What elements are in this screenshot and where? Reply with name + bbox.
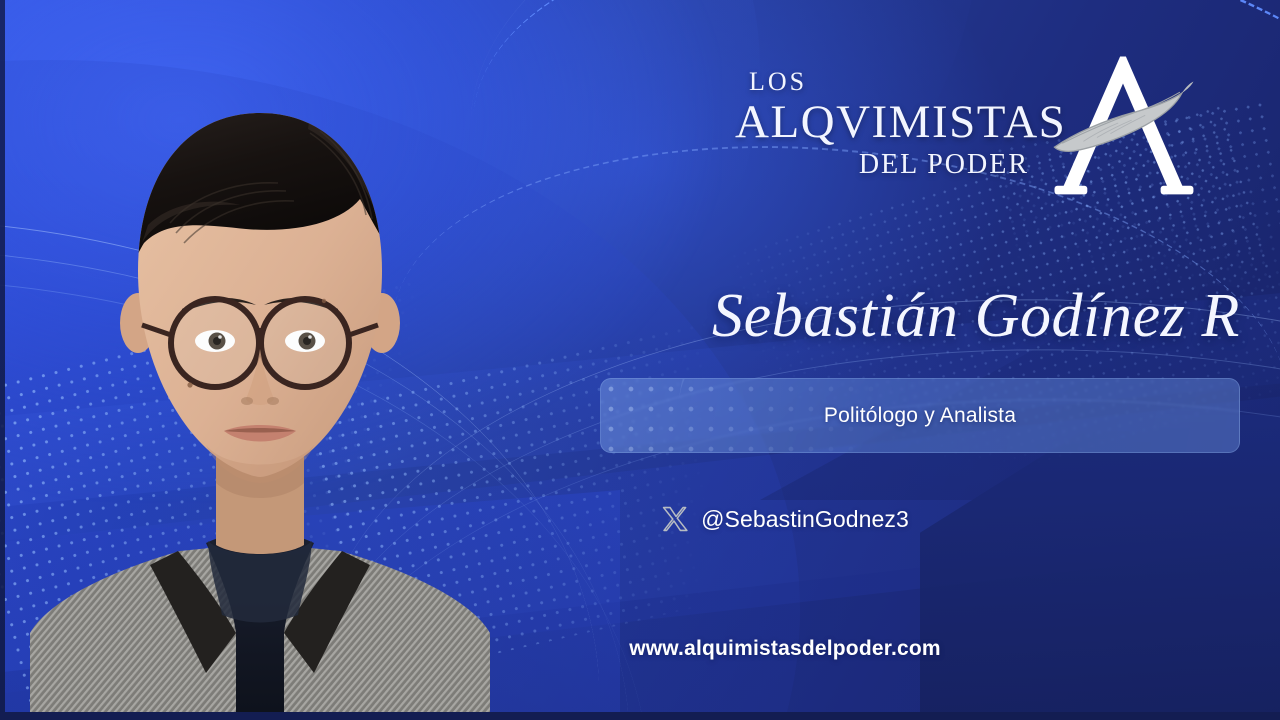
guest-role-label: Politólogo y Analista xyxy=(824,404,1016,428)
social-handle-text: @SebastinGodnez3 xyxy=(701,506,909,533)
social-handle-row: @SebastinGodnez3 xyxy=(0,505,1280,533)
bottom-accent-bar xyxy=(0,712,1280,720)
x-twitter-icon xyxy=(661,505,689,533)
broadcast-lower-third-graphic: LOS ALQVIMISTAS DEL PODER xyxy=(0,0,1280,720)
guest-portrait-photo xyxy=(10,73,510,713)
brand-logo-line-main: ALQVIMISTAS xyxy=(735,99,1035,146)
brand-logo-line-los: LOS xyxy=(735,69,1035,95)
brand-logo-wordmark: LOS ALQVIMISTAS DEL PODER xyxy=(735,69,1035,179)
guest-role-bar: Politólogo y Analista xyxy=(600,378,1240,453)
website-url: www.alquimistasdelpoder.com xyxy=(0,637,1280,661)
guest-name: Sebastián Godínez R xyxy=(0,281,1240,352)
letter-a-quill-icon xyxy=(1041,38,1205,210)
brand-logo: LOS ALQVIMISTAS DEL PODER xyxy=(735,36,1205,211)
brand-logo-line-sub: DEL PODER xyxy=(735,151,1035,179)
left-edge-strip xyxy=(0,0,5,720)
